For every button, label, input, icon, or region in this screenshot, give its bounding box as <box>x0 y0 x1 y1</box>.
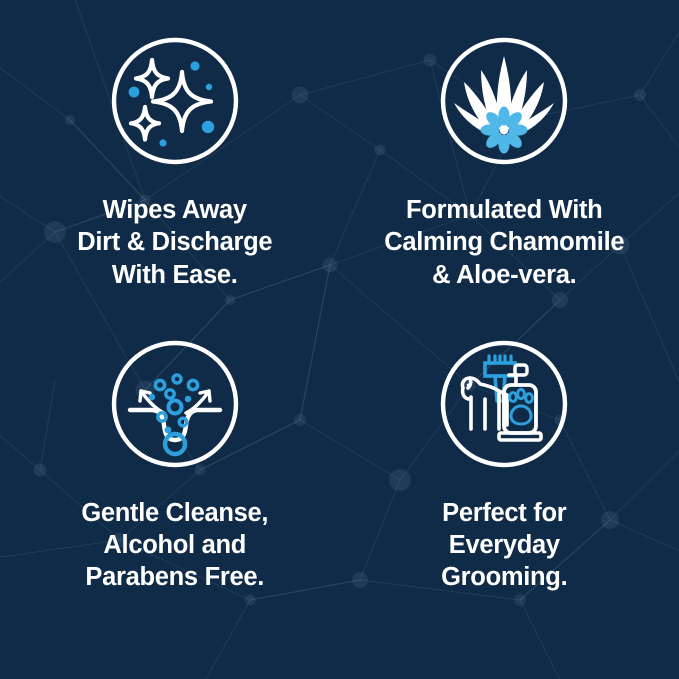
feature-grid: Wipes Away Dirt & Discharge With Ease. <box>0 0 679 679</box>
dog-grooming-icon <box>437 337 571 471</box>
aloe-chamomile-icon <box>437 34 571 168</box>
pore-cleanse-icon <box>108 337 242 471</box>
feature-caption: Perfect for Everyday Grooming. <box>441 497 567 594</box>
feature-item-gentle-cleanse: Gentle Cleanse, Alcohol and Parabens Fre… <box>10 337 340 640</box>
feature-caption: Wipes Away Dirt & Discharge With Ease. <box>77 194 272 291</box>
feature-item-wipes-away: Wipes Away Dirt & Discharge With Ease. <box>10 34 340 337</box>
feature-caption: Gentle Cleanse, Alcohol and Parabens Fre… <box>81 497 268 594</box>
sparkles-icon <box>108 34 242 168</box>
feature-item-formulated-with: Formulated With Calming Chamomile & Aloe… <box>340 34 670 337</box>
feature-caption: Formulated With Calming Chamomile & Aloe… <box>384 194 624 291</box>
feature-item-perfect-for-everyday: Perfect for Everyday Grooming. <box>340 337 670 640</box>
